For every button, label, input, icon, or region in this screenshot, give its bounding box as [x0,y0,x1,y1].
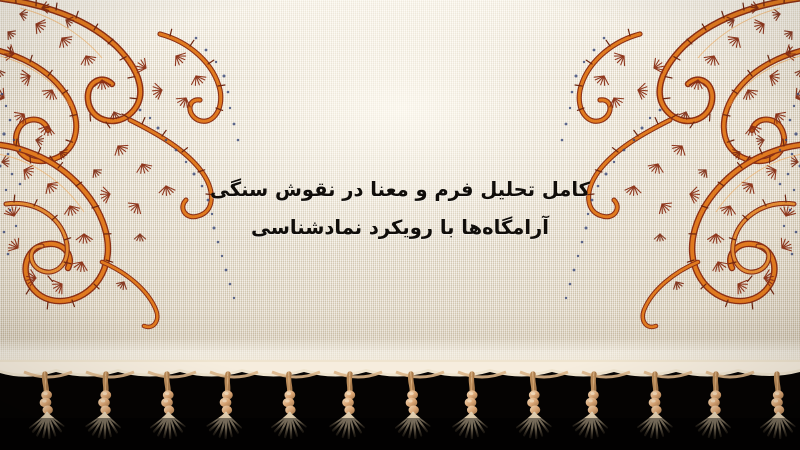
title-line-2: آرامگاه‌ها با رویکرد نمادشناسی [0,209,800,247]
slide-canvas: کامل تحلیل فرم و معنا در نقوش سنگی آرامگ… [0,0,800,450]
slide-title: کامل تحلیل فرم و معنا در نقوش سنگی آرامگ… [0,171,800,247]
tassel-fringe [0,360,800,450]
title-line-1: کامل تحلیل فرم و معنا در نقوش سنگی [0,171,800,209]
